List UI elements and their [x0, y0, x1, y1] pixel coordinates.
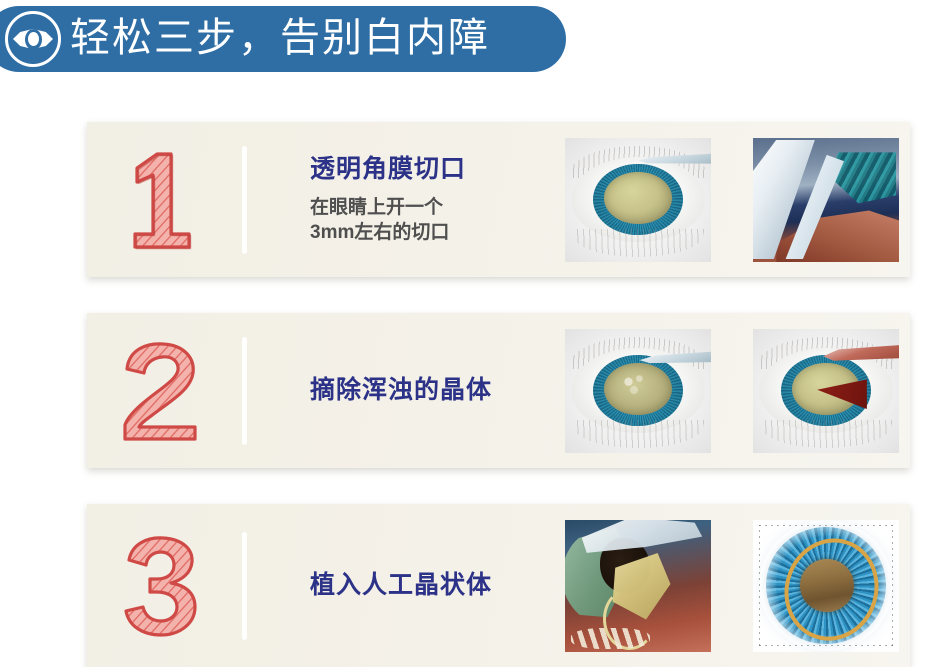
vertical-divider — [242, 337, 247, 445]
eye-icon — [2, 8, 64, 70]
step-title-3: 植入人工晶状体 — [310, 570, 545, 601]
step-number-2-icon — [117, 339, 203, 443]
step-images-2 — [545, 313, 899, 468]
step-images-1 — [545, 122, 899, 277]
page-title: 轻松三步，告别白内障 — [70, 18, 490, 61]
step-number-cell-1: 1 — [87, 122, 233, 277]
step-number-3-icon — [117, 534, 203, 638]
vertical-divider — [242, 532, 247, 640]
step-images-3 — [545, 504, 899, 667]
cloudy-lens-fragmentation-illustration — [565, 329, 711, 453]
iol-in-place-front-view — [753, 520, 899, 652]
step-text-cell-1: 透明角膜切口 在眼睛上开一个 3mm左右的切口 — [255, 122, 545, 277]
step-text-cell-2: 摘除浑浊的晶体 — [255, 313, 545, 468]
divider-cell-3 — [233, 504, 255, 667]
iol-implantation-cross-section — [565, 520, 711, 652]
vertical-divider — [242, 146, 247, 254]
divider-cell-2 — [233, 313, 255, 468]
vertical-divider-end — [919, 146, 924, 254]
step-number-cell-3: 3 — [87, 504, 233, 667]
corneal-incision-cross-section — [753, 138, 899, 262]
header-banner: 轻松三步，告别白内障 — [0, 6, 566, 72]
step-number-1-icon — [117, 148, 203, 252]
step-card-3: 3 植入人工晶状体 — [87, 504, 910, 667]
step-description-1: 在眼睛上开一个 3mm左右的切口 — [310, 195, 545, 245]
divider-cell-1 — [233, 122, 255, 277]
end-divider-cell-1 — [899, 122, 927, 277]
end-divider-cell-3 — [899, 504, 927, 667]
step-title-2: 摘除浑浊的晶体 — [310, 375, 545, 406]
step-card-2: 2 摘除浑浊的晶体 — [87, 313, 910, 468]
eye-icon-pupil — [28, 32, 39, 46]
step-text-cell-3: 植入人工晶状体 — [255, 504, 545, 667]
eye-corneal-incision-illustration — [565, 138, 711, 262]
step-number-cell-2: 2 — [87, 313, 233, 468]
vertical-divider-end — [919, 532, 924, 640]
lens-aspiration-illustration — [753, 329, 899, 453]
step-title-1: 透明角膜切口 — [310, 154, 545, 185]
step-card-1: 1 透明角膜切口 在眼睛上开一个 3mm左右的切口 — [87, 122, 910, 277]
vertical-divider-end — [919, 337, 924, 445]
end-divider-cell-2 — [899, 313, 927, 468]
